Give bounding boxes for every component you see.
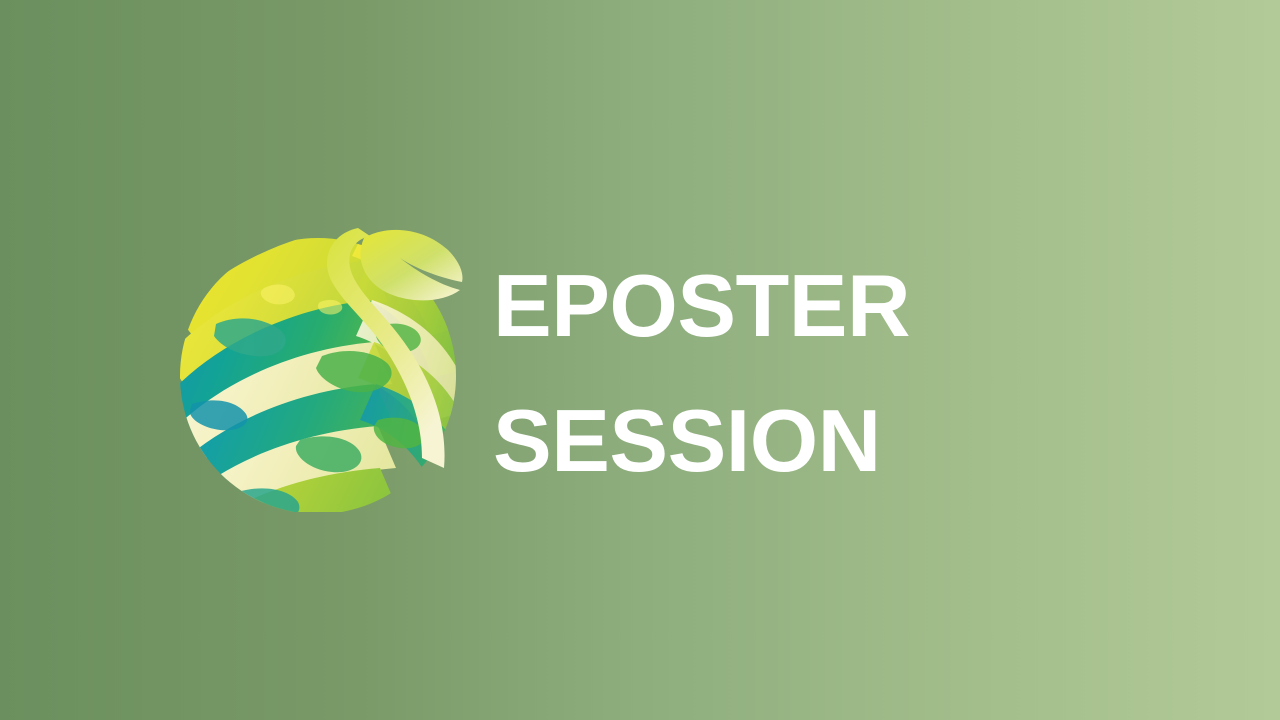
striped-globe-leaf-logo [172,206,464,512]
wordmark: EPOSTER SESSION [493,238,1213,508]
slide-canvas: EPOSTER SESSION [0,0,1280,720]
page-title-line-1: EPOSTER [493,238,1213,373]
page-title-line-2: SESSION [493,373,1213,508]
